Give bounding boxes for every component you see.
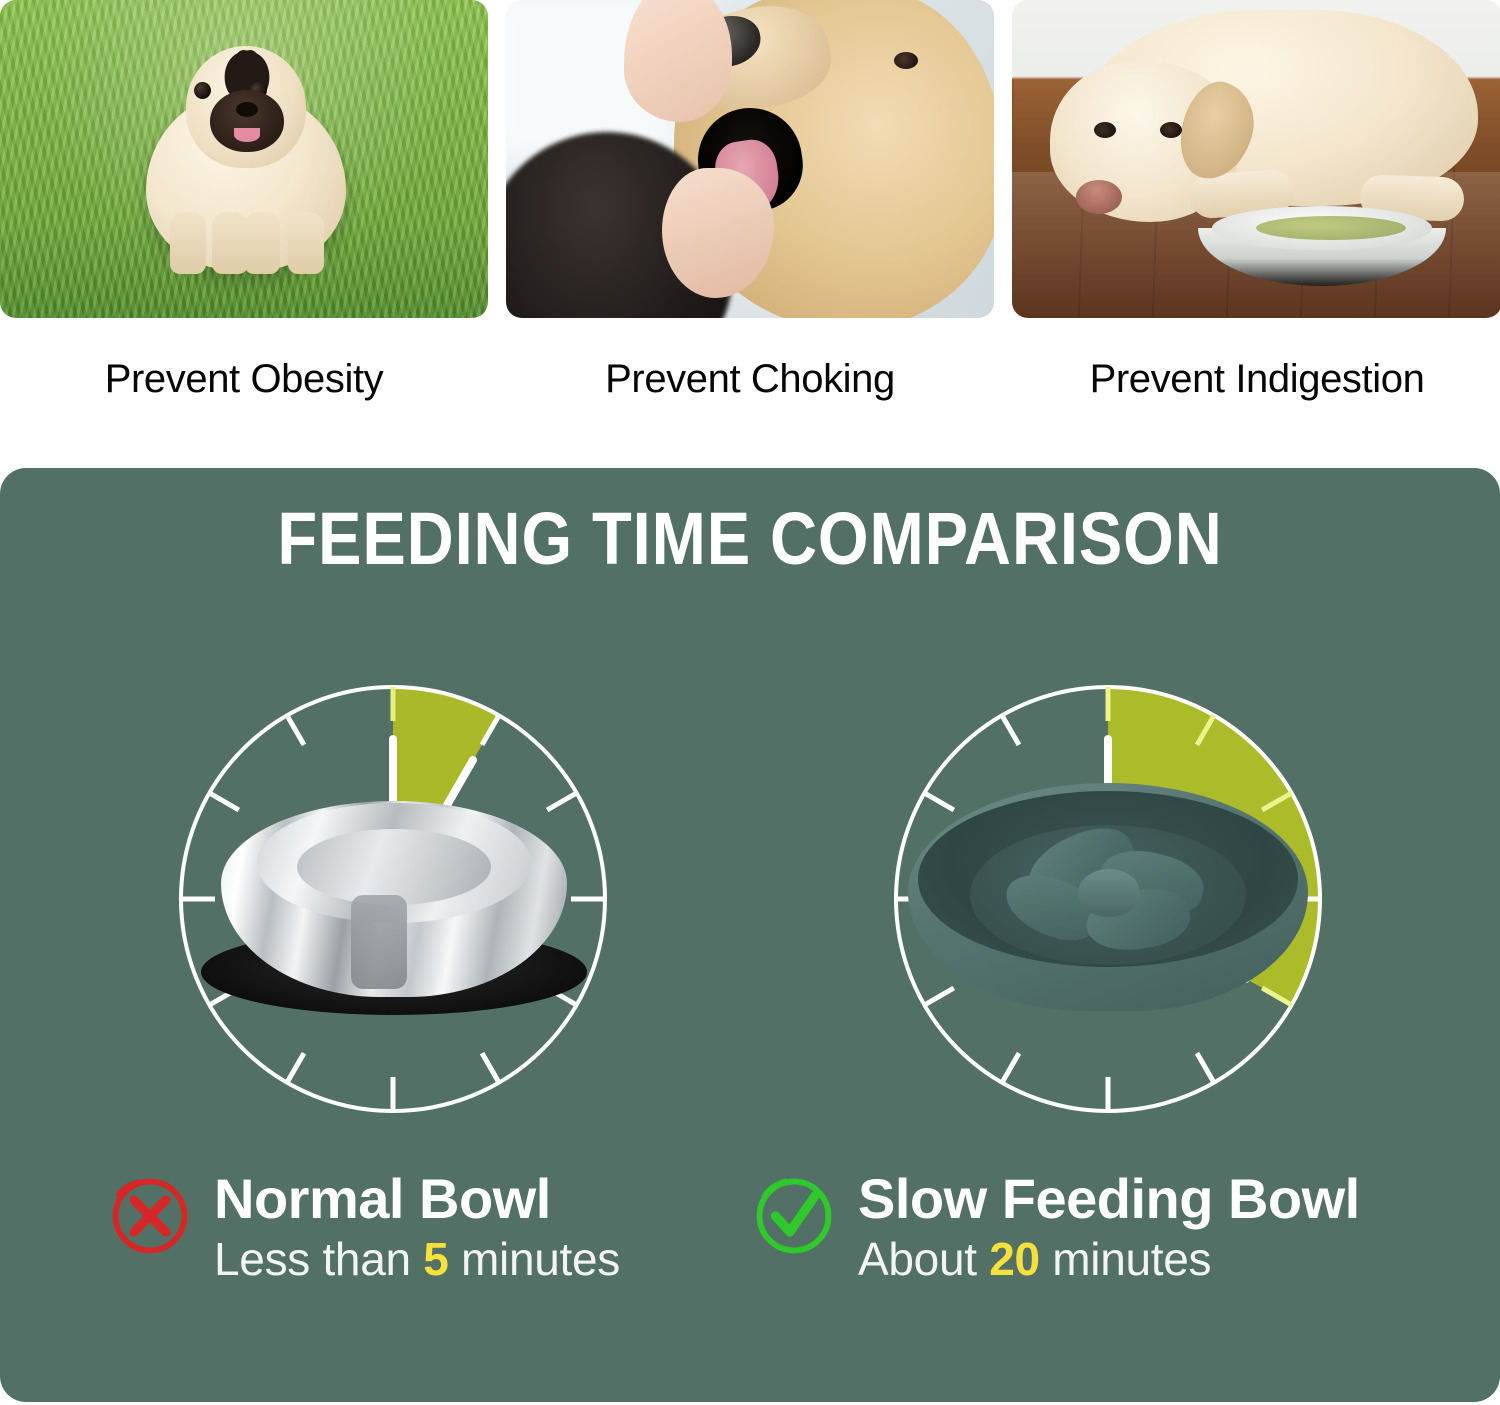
photo-prevent-obesity [0, 0, 488, 318]
pug-muzzle [210, 90, 284, 152]
result-sub-value: 20 [989, 1233, 1040, 1285]
green-check-icon [752, 1174, 836, 1258]
dog-eye [894, 52, 918, 69]
result-subtitle-slow-feeding-bowl: About 20 minutes [858, 1230, 1360, 1288]
photo-prevent-indigestion [1012, 0, 1500, 318]
labrador-eye [1094, 122, 1116, 138]
result-sub-prefix: About [858, 1233, 989, 1285]
panel-title: FEEDING TIME COMPARISON [90, 496, 1410, 581]
steel-food-bowl [1198, 206, 1446, 292]
benefit-photo-strip [0, 0, 1500, 318]
bowl-inner-well [297, 829, 491, 905]
result-text-block: Slow Feeding Bowl About 20 minutes [858, 1168, 1360, 1288]
photo-captions: Prevent Obesity Prevent Choking Prevent … [0, 340, 1500, 418]
result-slow-feeding-bowl: Slow Feeding Bowl About 20 minutes [752, 1168, 1360, 1288]
result-subtitle-normal-bowl: Less than 5 minutes [214, 1230, 620, 1288]
pug-leg [170, 212, 206, 274]
pug-eye [194, 82, 211, 99]
result-text-block: Normal Bowl Less than 5 minutes [214, 1168, 620, 1288]
pug-dog-illustration [138, 38, 354, 288]
labrador-eye [1160, 122, 1182, 138]
pug-leg [288, 212, 324, 274]
bowl-interior [1212, 206, 1432, 250]
result-title-normal-bowl: Normal Bowl [214, 1168, 620, 1230]
pug-leg [244, 212, 280, 274]
result-normal-bowl: Normal Bowl Less than 5 minutes [108, 1168, 620, 1288]
pug-nose [236, 102, 258, 117]
caption-prevent-indigestion: Prevent Indigestion [1012, 340, 1500, 418]
result-sub-suffix: minutes [1040, 1233, 1211, 1285]
caption-prevent-obesity: Prevent Obesity [0, 340, 488, 418]
caption-prevent-choking: Prevent Choking [506, 340, 994, 418]
red-x-icon [108, 1174, 192, 1258]
photo-prevent-choking [506, 0, 994, 318]
maze-center-hub [1078, 869, 1140, 917]
gauge-slow-feeding-bowl [882, 673, 1334, 1125]
slow-feeder-bowl-art [908, 783, 1308, 1033]
result-title-slow-feeding-bowl: Slow Feeding Bowl [858, 1168, 1360, 1230]
result-sub-value: 5 [423, 1233, 448, 1285]
bowl-highlight [351, 895, 407, 989]
stainless-steel-bowl-art [201, 785, 587, 1021]
result-rows: Normal Bowl Less than 5 minutes Slow Fee… [0, 1168, 1500, 1348]
result-sub-suffix: minutes [449, 1233, 620, 1285]
bowl-food [1256, 216, 1406, 240]
gauge-normal-bowl [167, 673, 619, 1125]
result-sub-prefix: Less than [214, 1233, 423, 1285]
gauge-row [0, 673, 1500, 1143]
pug-tongue [234, 128, 260, 142]
feeding-time-comparison-panel: FEEDING TIME COMPARISON [0, 468, 1500, 1402]
pug-leg [212, 212, 248, 274]
human-hand-upper [624, 0, 732, 122]
labrador-nose [1076, 180, 1122, 214]
